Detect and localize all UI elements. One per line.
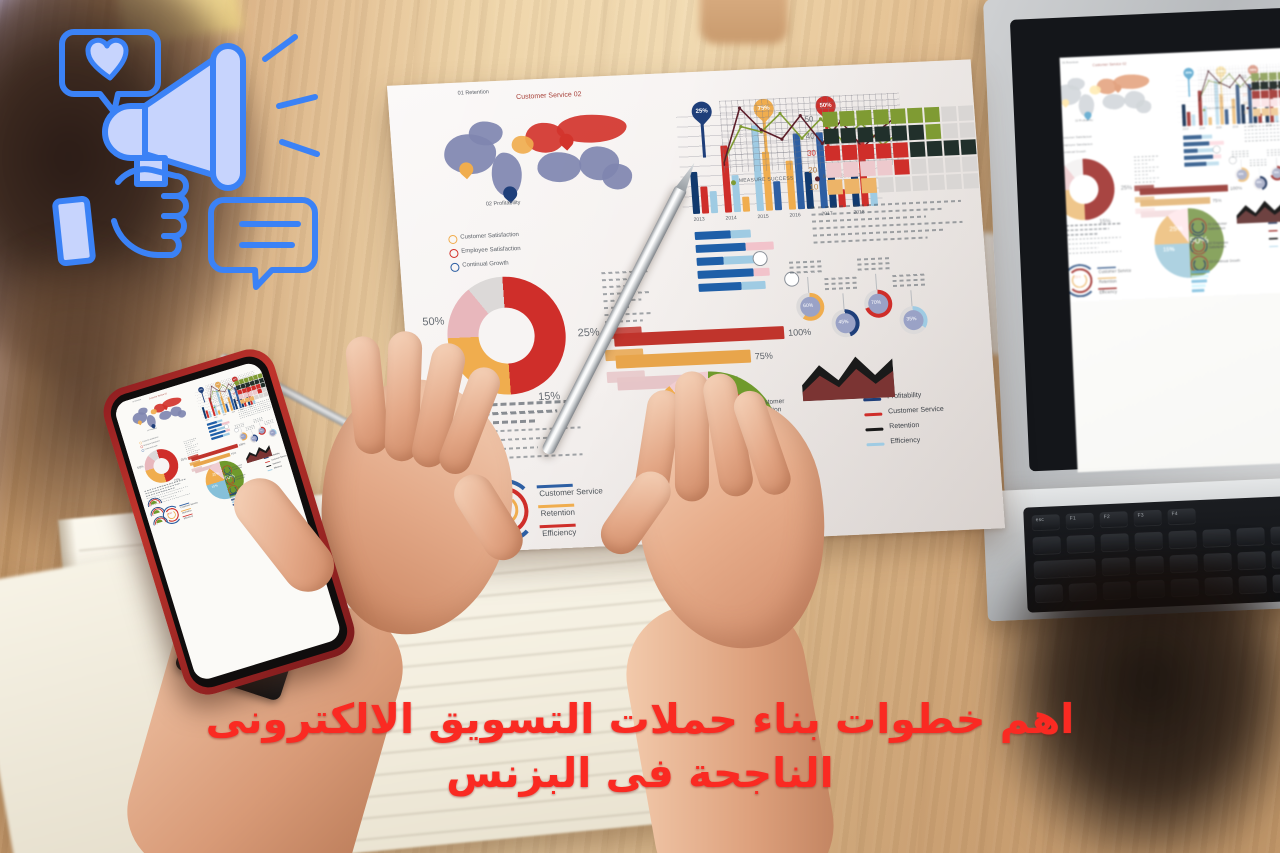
ring-kpi-stem	[251, 430, 253, 434]
range-bar-primary	[1184, 162, 1207, 167]
ranked-ring-label: 02 Employee Satisfaction	[1208, 240, 1240, 249]
range-bar-secondary	[730, 229, 751, 238]
heatmap-tick-label: 20	[1243, 101, 1248, 106]
heatmap-cell	[943, 140, 959, 156]
heatmap-caption-line	[1244, 123, 1280, 127]
column-bar	[1191, 114, 1195, 126]
heatmap-cell	[891, 125, 907, 141]
keyboard-key[interactable]	[1134, 532, 1163, 551]
heatmap-caption-line	[814, 236, 928, 243]
heatmap-cell	[911, 158, 927, 174]
kpi-legend-label: Continual Growth	[462, 260, 509, 268]
ring-kpi-caption	[1232, 156, 1250, 158]
process-arrow-label: Efficiency	[1099, 289, 1117, 294]
column-tick-label: 2013	[1183, 128, 1189, 131]
range-bar-primary	[1183, 141, 1209, 146]
column-tick-label: 2014	[1199, 127, 1205, 130]
heatmap-cell	[839, 111, 855, 127]
title-line-2: الناجحة فى البزنس	[26, 746, 1254, 800]
horizontal-bar-cap	[1135, 196, 1155, 203]
range-bar-primary	[697, 268, 753, 279]
map-region	[468, 121, 504, 146]
heatmap-cell	[873, 109, 889, 125]
main-legend-label: Retention	[889, 422, 919, 430]
ring-kpi-stem	[807, 277, 810, 293]
map-pin	[137, 420, 142, 425]
heatmap-cell	[941, 106, 957, 122]
side-text-line	[1134, 159, 1154, 161]
heatmap-cell	[840, 128, 856, 144]
ring-kpi-caption	[893, 284, 927, 288]
heatmap-cell	[857, 127, 873, 143]
heatmap-cell	[876, 143, 892, 159]
text-placeholder-line	[1060, 237, 1121, 241]
heatmap-cell	[958, 105, 974, 121]
heatmap-cell	[1252, 91, 1260, 99]
donut-label: 50%	[422, 315, 445, 328]
map-region	[536, 151, 582, 183]
ring-kpi-caption	[893, 279, 927, 283]
kpi-legend-marker	[449, 249, 459, 258]
heatmap-tick-label: 40	[805, 132, 815, 141]
heatmap-cell	[1253, 108, 1261, 116]
donut-label: 25%	[180, 457, 187, 462]
heatmap-cell	[890, 108, 906, 124]
process-arrow-label: Customer Service	[539, 486, 603, 498]
column-tick-label: 2016	[232, 411, 236, 414]
heatmap-tick-label: 30	[807, 148, 817, 157]
heart-speech-bubble-icon	[62, 32, 158, 112]
heatmap-cell	[912, 175, 928, 191]
keyboard-key[interactable]	[1168, 530, 1197, 549]
mini-bar	[1191, 279, 1207, 283]
ring-kpi-stem	[910, 290, 913, 306]
heatmap-cell	[1269, 72, 1277, 80]
process-arrow-label: Customer Service	[1098, 268, 1131, 274]
main-legend-dash	[865, 428, 883, 432]
ranked-ring-label: 03 Continual Growth	[1209, 259, 1240, 264]
heatmap-tick-label: 30	[1243, 92, 1248, 97]
map-region	[177, 409, 187, 419]
keyboard-key[interactable]	[1236, 527, 1265, 546]
column-tick-label: 2015	[757, 214, 769, 220]
map-annotation: 01 Retention	[458, 89, 490, 96]
heatmap-cell	[874, 126, 890, 142]
main-legend-label: Efficiency	[274, 465, 283, 469]
main-legend-dash	[1268, 230, 1277, 232]
side-text-line	[1134, 166, 1159, 168]
coffee-cup	[700, 0, 788, 44]
side-text-line	[1135, 174, 1150, 176]
heatmap-cell	[1251, 82, 1259, 90]
kpi-legend-label: Employee Satisfaction	[461, 246, 521, 255]
text-placeholder-line	[1060, 251, 1122, 255]
world-map-chart	[437, 100, 655, 224]
ring-kpi-caption	[1267, 154, 1280, 156]
range-bar-secondary	[225, 428, 230, 432]
donut-label: 50%	[137, 465, 144, 470]
heatmap-caption-line	[813, 229, 945, 237]
heatmap-cell	[959, 122, 975, 138]
ring-kpi-caption	[824, 277, 858, 281]
range-bar-secondary	[1202, 134, 1213, 139]
heatmap-cell	[1270, 99, 1278, 107]
heatmap-cell	[928, 158, 944, 174]
megaphone-announcement-sticker	[52, 14, 342, 294]
heatmap-tick-label: 50	[804, 115, 814, 124]
heatmap-cell	[860, 161, 876, 177]
keyboard-key[interactable]	[1202, 529, 1231, 548]
heatmap-cell	[1251, 73, 1259, 81]
keyboard-key-f3[interactable]: F3	[1133, 510, 1162, 527]
heatmap-tick-label: 10	[1243, 110, 1248, 115]
range-bar-marker	[1213, 145, 1221, 153]
heatmap-caption-line	[1245, 138, 1280, 142]
heatmap-cell	[945, 157, 961, 173]
main-legend-dash	[1269, 238, 1278, 240]
ring-kpi-stem	[259, 423, 261, 427]
range-bar-primary	[698, 282, 742, 292]
keyboard-key-esc[interactable]: esc	[1032, 514, 1061, 531]
side-text-line	[1135, 177, 1160, 179]
horizontal-bar-label: 100%	[238, 442, 245, 447]
heatmap-cell	[1252, 99, 1260, 107]
map-region	[1102, 93, 1126, 110]
text-placeholder-line	[1060, 223, 1121, 228]
range-bar-primary	[696, 257, 724, 266]
heatmap-cell	[1260, 73, 1268, 81]
heatmap-cell	[843, 162, 859, 178]
ring-kpi-value: 35%	[906, 316, 916, 322]
range-bar-primary	[1183, 135, 1202, 140]
horizontal-bar-label: 100%	[1230, 185, 1242, 191]
range-bar-primary	[695, 243, 745, 253]
ring-kpi-caption	[1267, 149, 1280, 151]
range-bar-secondary	[745, 241, 774, 250]
pie-slice-label: 15%	[1163, 246, 1175, 253]
ring-kpi-caption	[858, 267, 892, 271]
main-legend-label: Efficiency	[890, 437, 920, 445]
mini-bar	[1192, 284, 1206, 288]
range-bar-primary	[1184, 155, 1213, 160]
range-bar-secondary	[1213, 154, 1221, 159]
range-bar-marker	[1229, 156, 1237, 164]
range-bar-marker	[784, 271, 800, 287]
heatmap-cell	[929, 175, 945, 191]
map-region	[511, 135, 534, 154]
heatmap-cell	[861, 178, 877, 194]
map-region	[1136, 100, 1152, 114]
heatmap-cell	[1270, 108, 1278, 116]
text-placeholder-line	[1060, 247, 1099, 250]
heatmap-tick-label: 20	[808, 165, 818, 174]
pie-slice-label: 25%	[1169, 224, 1183, 232]
heatmap-cell	[910, 142, 926, 158]
ring-kpi-caption	[1232, 153, 1250, 155]
heatmap-cell	[878, 177, 894, 193]
laptop-bezel: Customer Service 0201 Retention02 Profit…	[1010, 7, 1280, 471]
ring-kpi-caption	[892, 274, 926, 278]
heatmap-caption-line	[1244, 130, 1280, 134]
map-annotation: 01 Retention	[132, 399, 141, 403]
side-text-line	[1135, 181, 1155, 183]
ring-kpi-caption	[1250, 164, 1268, 166]
right-hand	[581, 346, 869, 704]
mini-bar	[1191, 270, 1210, 274]
map-region	[150, 408, 157, 415]
heatmap-cell	[907, 108, 923, 124]
heatmap-cell	[926, 141, 942, 157]
heatmap-cell	[895, 176, 911, 192]
megaphone-icon	[105, 46, 243, 188]
gauge-fill	[1060, 283, 1061, 289]
heatmap-cell	[823, 128, 839, 144]
process-arrow-label: Retention	[540, 508, 575, 519]
donut-chart	[1060, 157, 1116, 221]
donut-label: 25%	[1121, 185, 1133, 192]
kpi-legend-label: Employee Satisfaction	[1062, 143, 1093, 147]
heatmap-cell	[827, 179, 843, 195]
keyboard-key[interactable]	[1032, 536, 1061, 555]
kpi-legend-label: Customer Satisfaction	[460, 232, 519, 241]
kpi-legend-label: Continual Growth	[1062, 150, 1086, 154]
column-bar	[1225, 109, 1229, 124]
side-text-line	[1134, 155, 1159, 157]
column-tick-label: 2013	[205, 419, 209, 422]
ring-kpi-value: 70%	[1274, 171, 1279, 174]
process-center-label: 25%	[1074, 275, 1081, 279]
ring-kpi-caption	[825, 287, 859, 291]
gauge-arc	[1060, 259, 1070, 274]
side-text-line	[1134, 163, 1149, 165]
column-bar	[1208, 117, 1212, 125]
keyboard-key-f2[interactable]: F2	[1099, 511, 1128, 528]
keyboard-key-f1[interactable]: F1	[1065, 513, 1094, 530]
ring-kpi-stem	[842, 293, 845, 309]
ring-kpi-caption	[1267, 151, 1280, 153]
column-bar	[742, 197, 750, 212]
ring-kpi-stem	[1276, 158, 1277, 166]
column-bar	[1187, 112, 1191, 126]
column-tick-label: 2013	[693, 217, 705, 223]
column-tick-label: 2014	[725, 215, 737, 221]
heatmap-cell	[925, 124, 941, 140]
heatmap-tick-label: 40	[1242, 83, 1247, 88]
screenshot-root: Customer Service 0201 Retention02 Profit…	[0, 0, 1280, 853]
horizontal-bar-label: 100%	[788, 327, 812, 338]
kpi-legend-marker	[450, 263, 460, 272]
text-placeholder-line	[1060, 233, 1098, 237]
main-legend-dash	[866, 443, 884, 447]
heatmap-cell	[1270, 90, 1278, 98]
heatmap-cell	[822, 111, 838, 127]
horizontal-bar-cap	[1134, 185, 1154, 192]
heatmap-cell	[1261, 90, 1269, 98]
world-map-chart	[128, 390, 195, 439]
heatmap-cell	[908, 125, 924, 141]
ring-kpi-value: 45%	[1256, 181, 1261, 184]
heatmap-cell	[825, 145, 841, 161]
range-bar-secondary	[223, 432, 230, 436]
side-text-line	[1135, 170, 1155, 172]
ring-kpi-caption	[790, 270, 824, 274]
range-bar-primary	[1184, 149, 1198, 154]
heatmap-cell	[1260, 81, 1268, 89]
gauge-arc	[1060, 262, 1067, 273]
heatmap-cell	[877, 160, 893, 176]
heatmap-tick-label: 10	[809, 182, 819, 191]
ring-kpi-caption	[825, 282, 859, 286]
ring-kpi-caption	[857, 262, 891, 266]
ring-kpi-stem	[241, 428, 243, 432]
heatmap-tick-label: 50	[1242, 75, 1247, 80]
map-title: Customer Service 02	[516, 91, 582, 101]
text-placeholder-line	[1060, 242, 1110, 246]
map-region	[1089, 85, 1101, 95]
laptop-screen: Customer Service 0201 Retention02 Profit…	[1060, 46, 1280, 472]
kpi-legend-marker	[1060, 151, 1061, 156]
keyboard-key[interactable]	[1270, 526, 1280, 545]
horizontal-bar-cap	[1135, 208, 1155, 215]
laptop-lid: Customer Service 0201 Retention02 Profit…	[983, 0, 1280, 499]
map-region	[1067, 77, 1085, 90]
heatmap-cell	[963, 173, 979, 189]
keyboard-key[interactable]	[1100, 533, 1129, 552]
horizontal-bar-label: 75%	[1212, 197, 1222, 203]
column-tick-label: 2016	[789, 212, 801, 218]
text-placeholder-line	[1060, 228, 1109, 232]
ring-kpi-value: 45%	[838, 319, 848, 325]
kpi-legend-marker	[448, 235, 458, 244]
heatmap-caption-line	[1244, 134, 1280, 138]
main-legend-dash	[267, 469, 272, 471]
ring-kpi-caption	[1250, 162, 1268, 164]
keyboard-key-f4[interactable]: F4	[1167, 508, 1196, 525]
area-chart	[1236, 199, 1280, 224]
range-bar-secondary	[1207, 161, 1220, 166]
mini-bar	[1191, 275, 1208, 279]
map-annotation: 01 Retention	[1062, 61, 1078, 65]
gauge-arc	[1060, 244, 1066, 255]
ring-kpi-value: 70%	[871, 300, 881, 306]
heatmap-cell	[826, 162, 842, 178]
heatmap-cell	[1269, 81, 1277, 89]
column-tick-label: 2015	[223, 413, 227, 416]
column-tick-label: 2016	[1233, 125, 1239, 128]
map-title: Customer Service 02	[1092, 62, 1126, 67]
kpi-legend-label: Customer Satisfaction	[1061, 135, 1092, 139]
sound-rays-icon	[265, 37, 317, 154]
gauge-arc	[1060, 280, 1067, 291]
main-legend-dash	[265, 461, 270, 463]
ranked-ring-label: 01 Customer Satisfaction	[1208, 222, 1240, 231]
heatmap-cell	[894, 159, 910, 175]
process-arrow-label: Retention	[1099, 279, 1117, 284]
map-region	[601, 163, 633, 190]
ring-kpi-stem	[1241, 159, 1242, 167]
range-bar-secondary	[741, 281, 766, 290]
heatmap-cell	[962, 156, 978, 172]
heatmap-cell	[1261, 108, 1269, 116]
ring-kpi-caption	[789, 265, 823, 269]
keyboard-key[interactable]	[1066, 535, 1095, 554]
ring-kpi-value: 60%	[1238, 173, 1243, 176]
horizontal-bar-cap	[605, 348, 644, 361]
range-bar-secondary	[753, 268, 770, 277]
ring-kpi-value: 60%	[803, 303, 813, 309]
main-legend-dash	[266, 465, 271, 467]
laptop: Customer Service 0201 Retention02 Profit…	[973, 0, 1280, 559]
title-line-1: اهم خطوات بناء حملات التسويق الالكترونى	[26, 692, 1254, 746]
chat-speech-bubble-icon	[211, 200, 315, 287]
heatmap-cell	[942, 123, 958, 139]
main-legend-dash	[864, 413, 882, 417]
heatmap-cell	[844, 179, 860, 195]
heatmap-cell	[893, 142, 909, 158]
range-bar-marker	[752, 251, 768, 267]
ring-kpi-caption	[1250, 159, 1268, 161]
horizontal-bar-label: 75%	[231, 451, 237, 455]
ring-kpi-caption	[1232, 150, 1250, 152]
laptop-infographic: Customer Service 0201 Retention02 Profit…	[1060, 46, 1280, 303]
heatmap-cell	[960, 139, 976, 155]
page-title: اهم خطوات بناء حملات التسويق الالكترونى …	[0, 692, 1280, 800]
heatmap-cell	[859, 144, 875, 160]
column-tick-label: 2015	[1216, 126, 1222, 129]
heatmap-cell	[842, 145, 858, 161]
ring-kpi-caption	[789, 260, 823, 264]
ring-kpi-stem	[1259, 168, 1260, 176]
column-tick-label: 2014	[214, 416, 218, 419]
ring-kpi-stem	[875, 274, 878, 290]
mini-bar	[1192, 289, 1205, 293]
heatmap-cell	[924, 107, 940, 123]
main-legend-dash	[1269, 245, 1278, 247]
heatmap-cell	[1261, 99, 1269, 107]
process-arrow-label: Efficiency	[542, 528, 577, 539]
ring-kpi-stem	[270, 425, 272, 429]
main-legend-label: Customer Service	[888, 406, 944, 416]
kpi-legend-marker	[1060, 144, 1061, 149]
range-bar-primary	[695, 230, 732, 240]
heatmap-cell	[946, 174, 962, 190]
heatmap-cell	[856, 110, 872, 126]
ring-kpi-caption	[857, 257, 891, 261]
